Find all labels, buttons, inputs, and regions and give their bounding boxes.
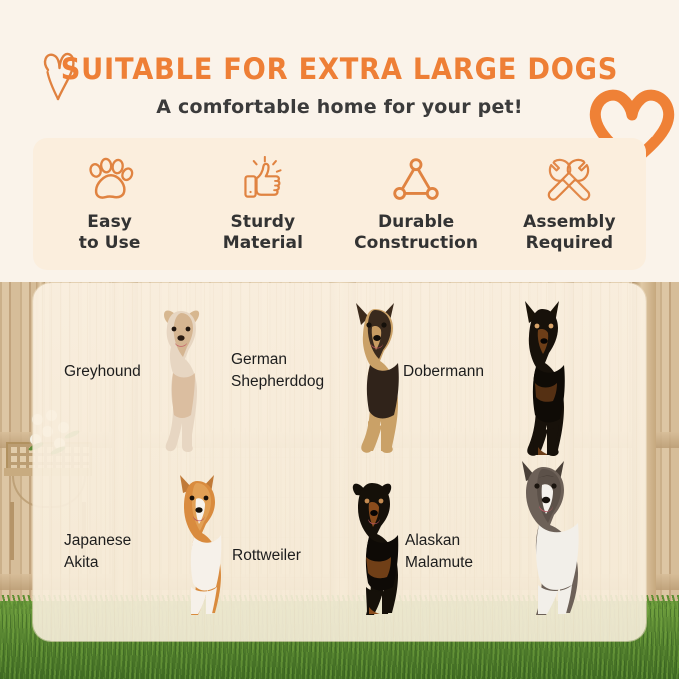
features-bar: Easy to Use Sturdy Material — [33, 138, 646, 270]
feature-label-line2: Material — [223, 233, 303, 254]
feature-label: Easy to Use — [79, 212, 141, 253]
triangle-nodes-icon — [388, 154, 444, 206]
feature-durable-construction: Durable Construction — [340, 138, 493, 253]
thumbs-up-icon — [237, 154, 289, 206]
feature-label-line2: Construction — [354, 233, 478, 254]
bench-leg — [10, 502, 14, 560]
feature-label: Sturdy Material — [223, 212, 303, 253]
breed-label-rottweiler: Rottweiler — [232, 545, 301, 567]
breed-label-dobermann: Dobermann — [403, 361, 484, 383]
feature-sturdy-material: Sturdy Material — [186, 138, 339, 253]
page-subtitle: A comfortable home for your pet! — [0, 96, 679, 118]
breeds-panel: Greyhound German Shepherddog — [33, 283, 646, 641]
feature-label-line1: Sturdy — [223, 212, 303, 233]
feature-easy-to-use: Easy to Use — [33, 138, 186, 253]
alaskan-malamute-photo — [488, 455, 600, 619]
breed-label-japanese-akita: Japanese Akita — [64, 530, 131, 575]
feature-label-line1: Easy — [79, 212, 141, 233]
breed-label-german-shepherddog: German Shepherddog — [231, 349, 324, 394]
paw-print-icon — [83, 154, 137, 206]
page-title: SUITABLE FOR EXTRA LARGE DOGS — [20, 52, 658, 86]
feature-label: Assembly Required — [523, 212, 616, 253]
infographic-root: SUITABLE FOR EXTRA LARGE DOGS A comforta… — [0, 0, 679, 679]
wrench-screwdriver-icon — [542, 154, 596, 206]
feature-label-line2: to Use — [79, 233, 141, 254]
feature-label: Durable Construction — [354, 212, 478, 253]
feature-label-line2: Required — [523, 233, 616, 254]
greyhound-photo — [137, 303, 225, 458]
feature-label-line1: Assembly — [523, 212, 616, 233]
feature-label-line1: Durable — [354, 212, 478, 233]
dobermann-photo — [495, 297, 587, 460]
breed-label-alaskan-malamute: Alaskan Malamute — [405, 530, 473, 575]
japanese-akita-photo — [151, 471, 243, 619]
breed-label-greyhound: Greyhound — [64, 361, 141, 383]
feature-assembly-required: Assembly Required — [493, 138, 646, 253]
